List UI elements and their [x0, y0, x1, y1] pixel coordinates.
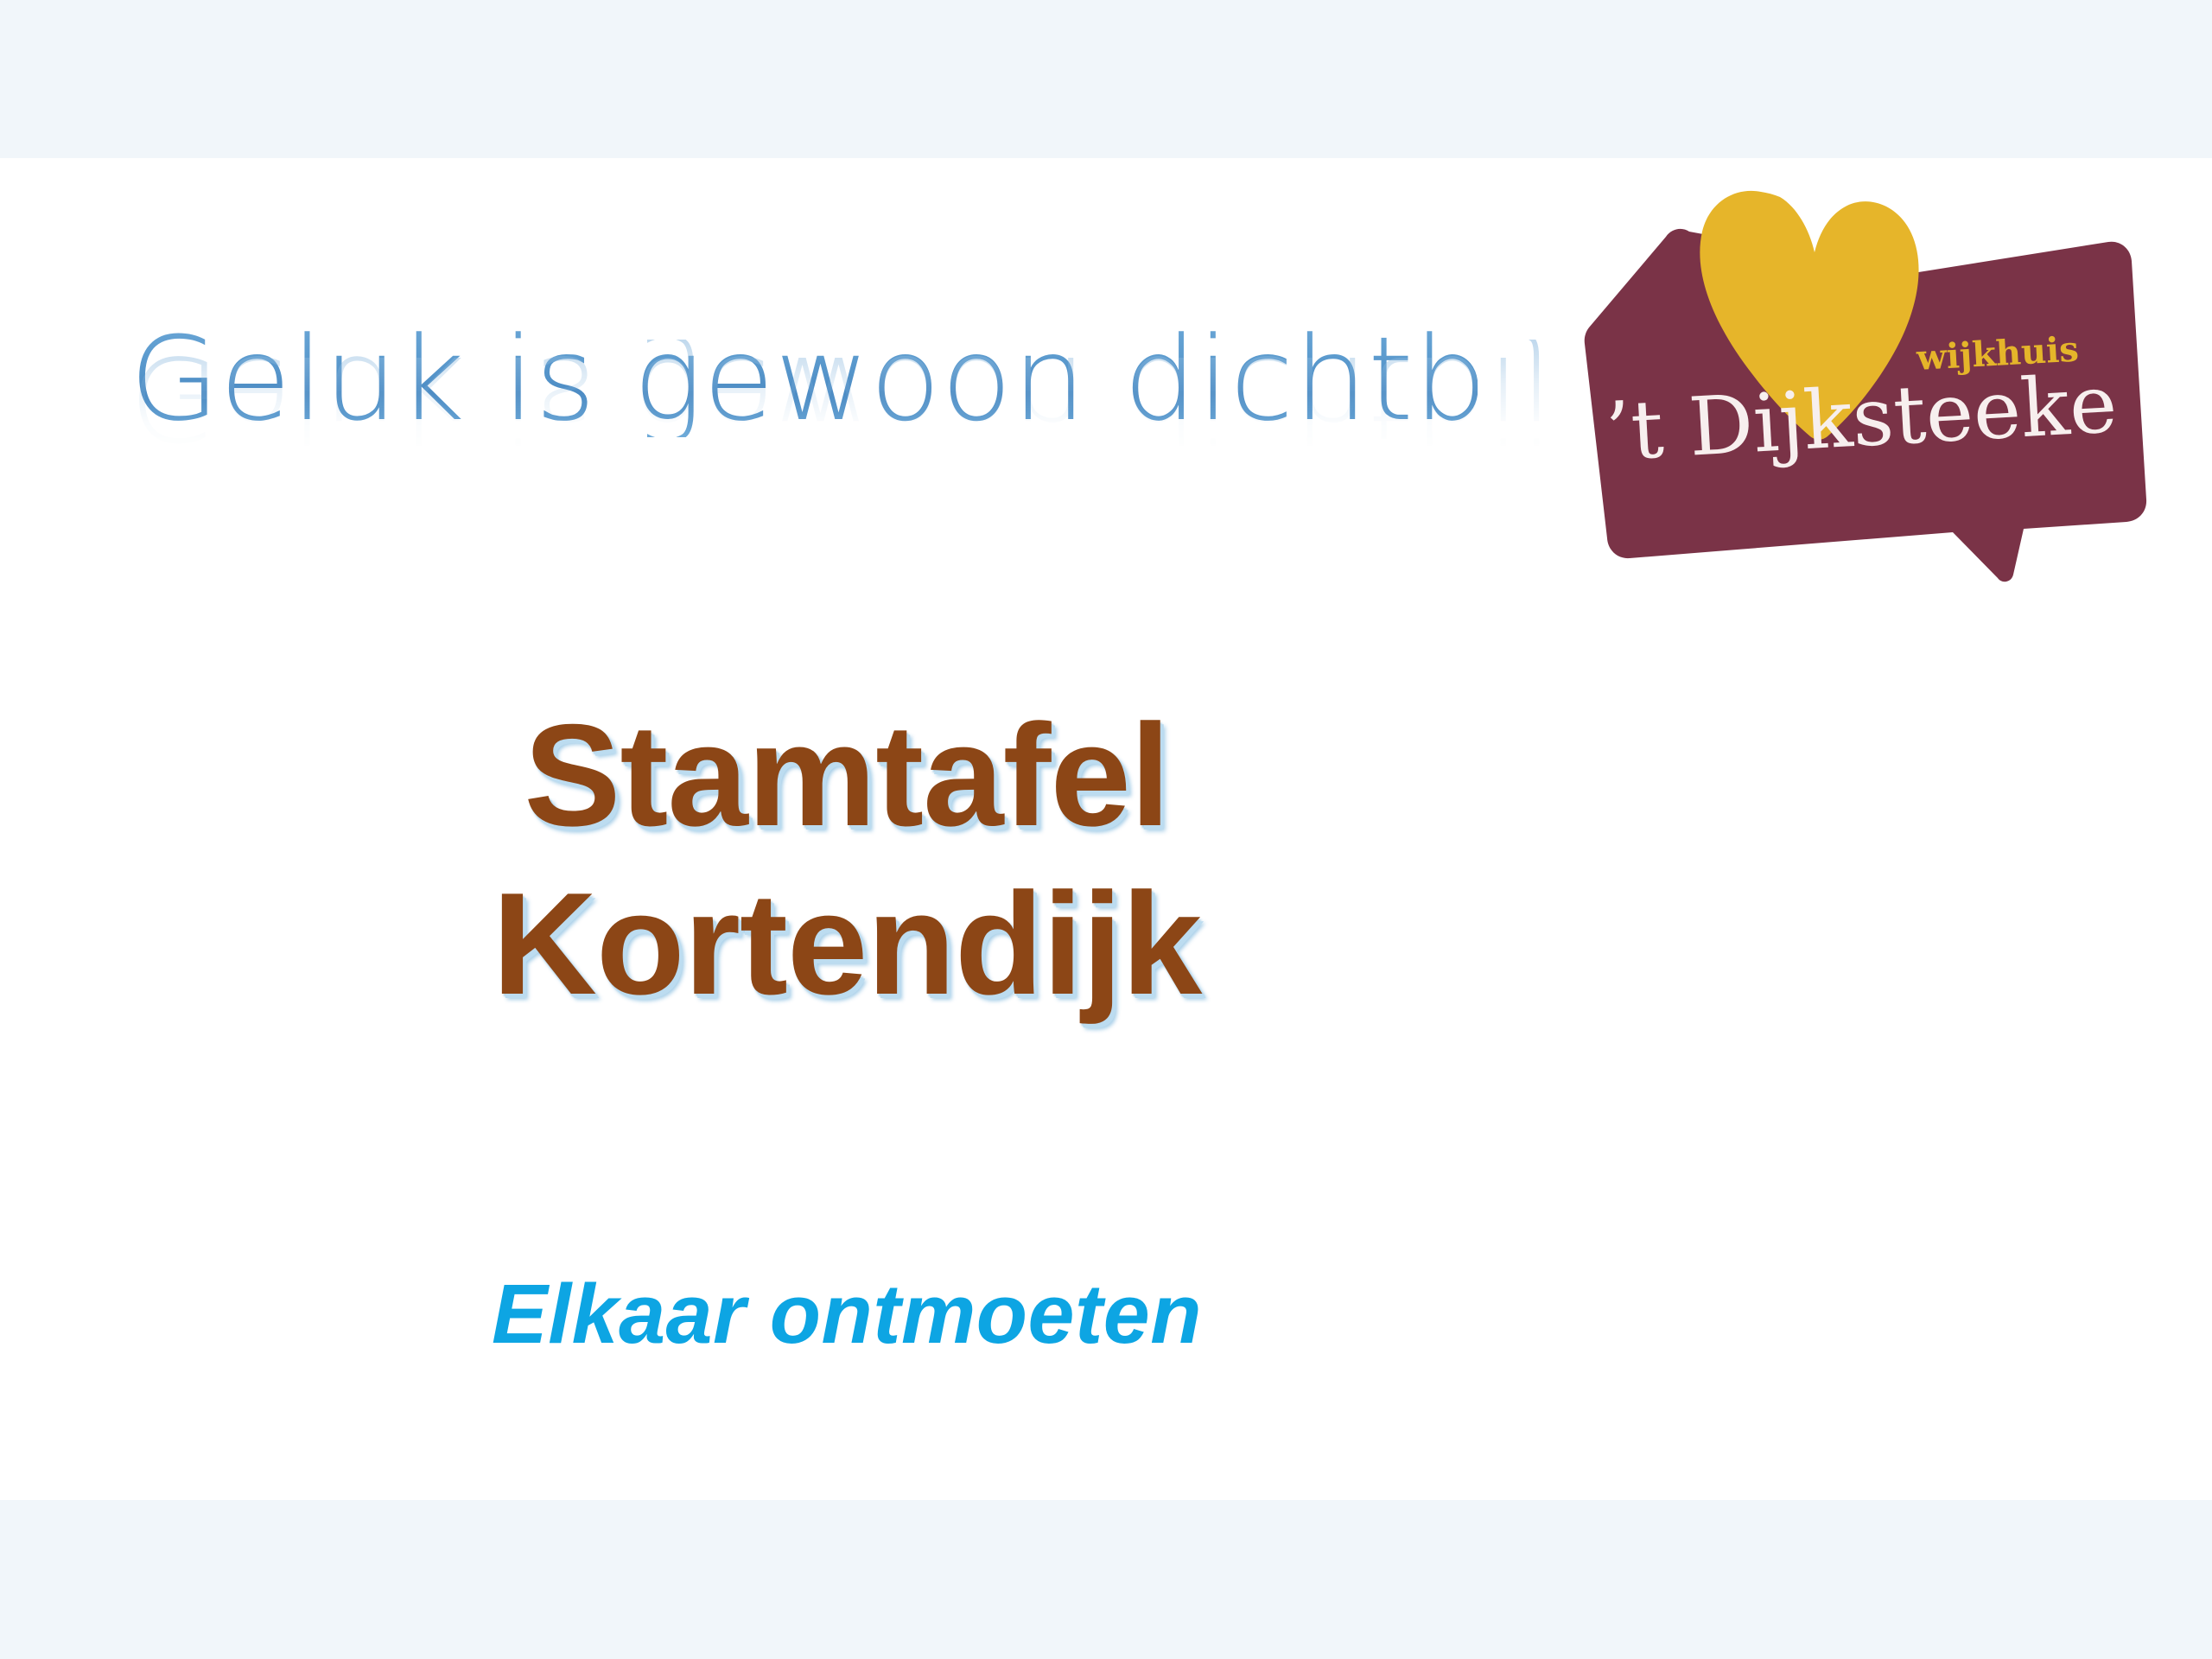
title-line-2: Kortendijk [0, 860, 1694, 1028]
wijkhuis-dijksteeke-logo: wijkhuis ’t Dijksteeke [1566, 183, 2157, 582]
slide-title: Stamtafel Kortendijk [0, 691, 1694, 1028]
title-line-1: Stamtafel [0, 691, 1694, 860]
bottom-decorative-band [0, 1500, 2212, 1659]
slide-subtitle: Elkaar ontmoeten [0, 1268, 1694, 1361]
top-decorative-band [0, 0, 2212, 158]
tagline-block: Geluk is gewoon dichtbij Geluk is gewoon… [130, 321, 1478, 581]
presentation-slide: Geluk is gewoon dichtbij Geluk is gewoon… [0, 0, 2212, 1659]
tagline-text: Geluk is gewoon dichtbij [130, 321, 1478, 437]
